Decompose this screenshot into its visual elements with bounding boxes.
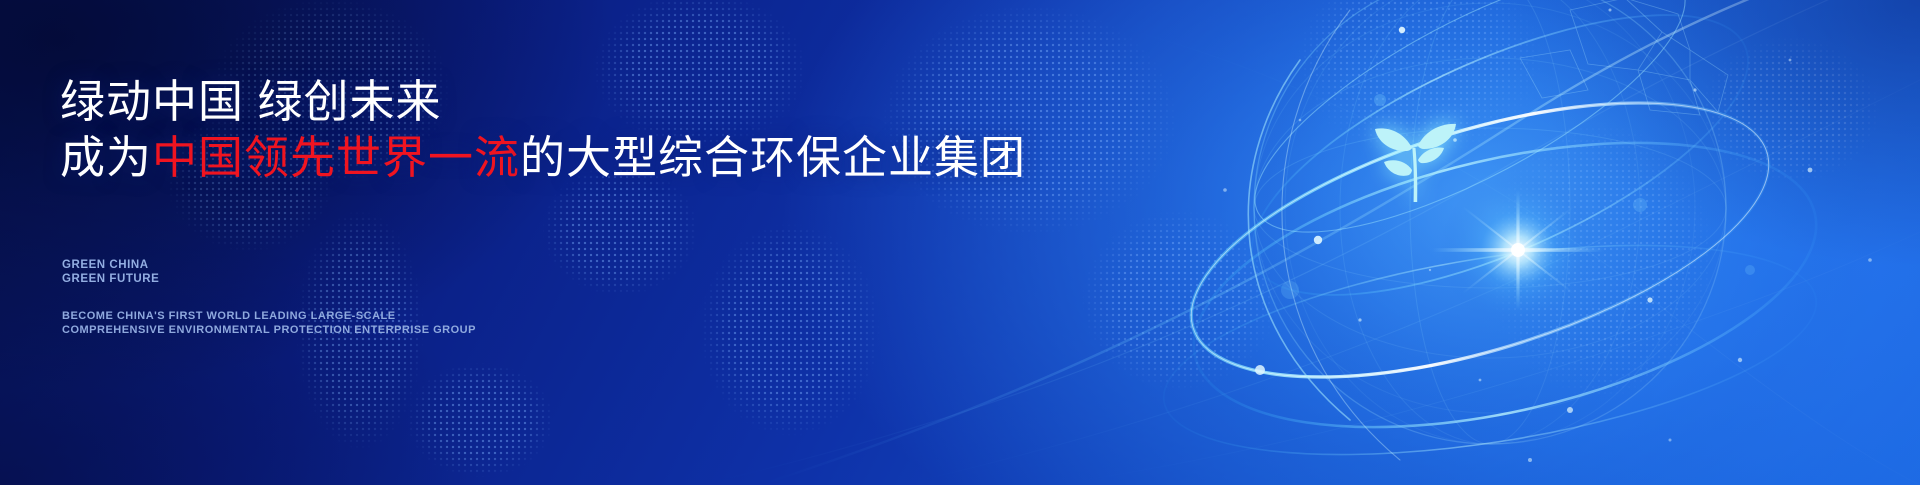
headline-line-1: 绿动中国 绿创未来	[60, 79, 442, 124]
subtitle-slogan: GREEN CHINA GREEN FUTURE	[62, 258, 159, 286]
subtitle-description-line-1: BECOME CHINA'S FIRST WORLD LEADING LARGE…	[62, 310, 476, 324]
headline-suffix: 的大型综合环保企业集团	[520, 132, 1026, 183]
subtitle-slogan-line-2: GREEN FUTURE	[62, 272, 159, 286]
subtitle-description-line-2: COMPREHENSIVE ENVIRONMENTAL PROTECTION E…	[62, 324, 476, 338]
hero-text-block: 绿动中国 绿创未来 成为中国领先世界一流的大型综合环保企业集团 GREEN CH…	[60, 0, 1060, 485]
headline-line-2: 成为中国领先世界一流的大型综合环保企业集团	[60, 135, 1026, 180]
hero-banner: 绿动中国 绿创未来 成为中国领先世界一流的大型综合环保企业集团 GREEN CH…	[0, 0, 1920, 485]
wireframe-globe-icon	[1050, 0, 1920, 485]
subtitle-slogan-line-1: GREEN CHINA	[62, 258, 159, 272]
headline-prefix: 成为	[60, 132, 152, 183]
headline-highlight: 中国领先世界一流	[152, 132, 520, 183]
sprout-leaf-icon	[1370, 108, 1462, 204]
subtitle-description: BECOME CHINA'S FIRST WORLD LEADING LARGE…	[62, 310, 476, 337]
